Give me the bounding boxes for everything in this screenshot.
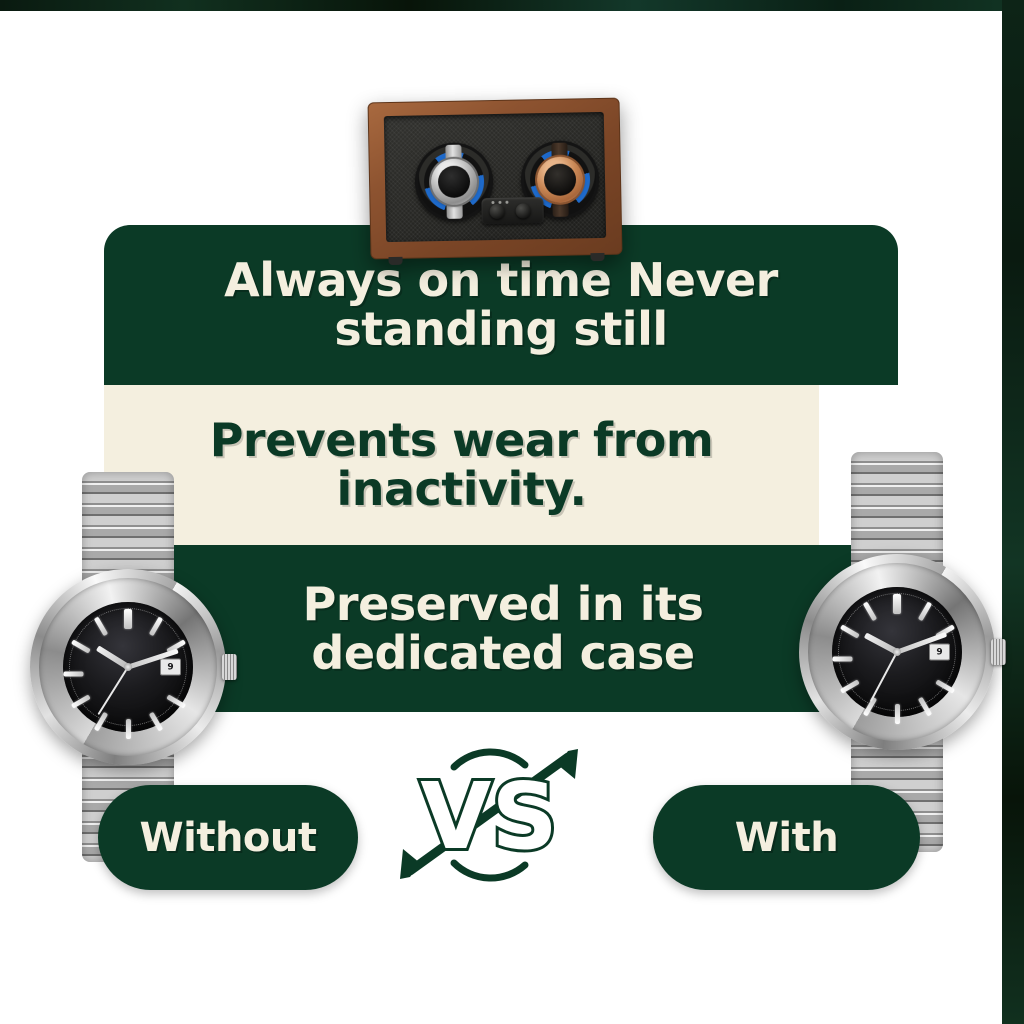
- winder-knob-left[interactable]: [489, 204, 504, 219]
- versus-icon: VS: [382, 735, 597, 895]
- watch-dial-right: 9: [832, 587, 962, 717]
- winder-foot-right: [590, 253, 604, 261]
- hour-index: [126, 719, 131, 739]
- hour-index: [63, 672, 83, 677]
- versus-badge: VS: [382, 735, 597, 895]
- watch-crown-left: [222, 654, 237, 680]
- hour-index: [124, 609, 132, 629]
- frame-top-strip: [0, 0, 1024, 11]
- date-window-right: 9: [929, 644, 950, 661]
- poster-canvas: Always on time Never standing still Prev…: [0, 0, 1024, 1024]
- date-window-left: 9: [160, 659, 181, 676]
- winder-interior: [384, 112, 606, 242]
- versus-text: VS: [420, 763, 557, 870]
- frame-right-strip: [1002, 0, 1024, 1024]
- with-label: With: [735, 815, 838, 861]
- hour-index: [893, 594, 901, 614]
- headline-band-green-2: Preserved in its dedicated case: [146, 545, 860, 712]
- watch-crown-right: [991, 639, 1006, 665]
- hour-index: [832, 657, 852, 662]
- watch-dial-left: 9: [63, 602, 193, 732]
- hour-index: [895, 704, 900, 724]
- winder-foot-left: [388, 257, 402, 265]
- watch-winder-box: [368, 98, 623, 260]
- headline-text-3: Preserved in its dedicated case: [146, 580, 860, 678]
- headline-text-1: Always on time Never standing still: [104, 256, 898, 354]
- with-pill[interactable]: With: [653, 785, 920, 890]
- winder-led-3: [505, 201, 508, 204]
- watch-bezel-left: 9: [39, 578, 217, 756]
- hand-pin-left: [124, 663, 132, 671]
- winder-watch-right: [537, 156, 584, 203]
- watch-bezel-right: 9: [808, 563, 986, 741]
- without-pill[interactable]: Without: [98, 785, 358, 890]
- winder-control-panel[interactable]: [481, 197, 543, 224]
- winder-knob-right[interactable]: [515, 203, 530, 218]
- winder-watch-left: [431, 158, 478, 205]
- hand-pin-right: [893, 648, 901, 656]
- without-label: Without: [139, 815, 316, 861]
- watch-case-right: 9: [799, 554, 995, 750]
- watch-case-left: 9: [30, 569, 226, 765]
